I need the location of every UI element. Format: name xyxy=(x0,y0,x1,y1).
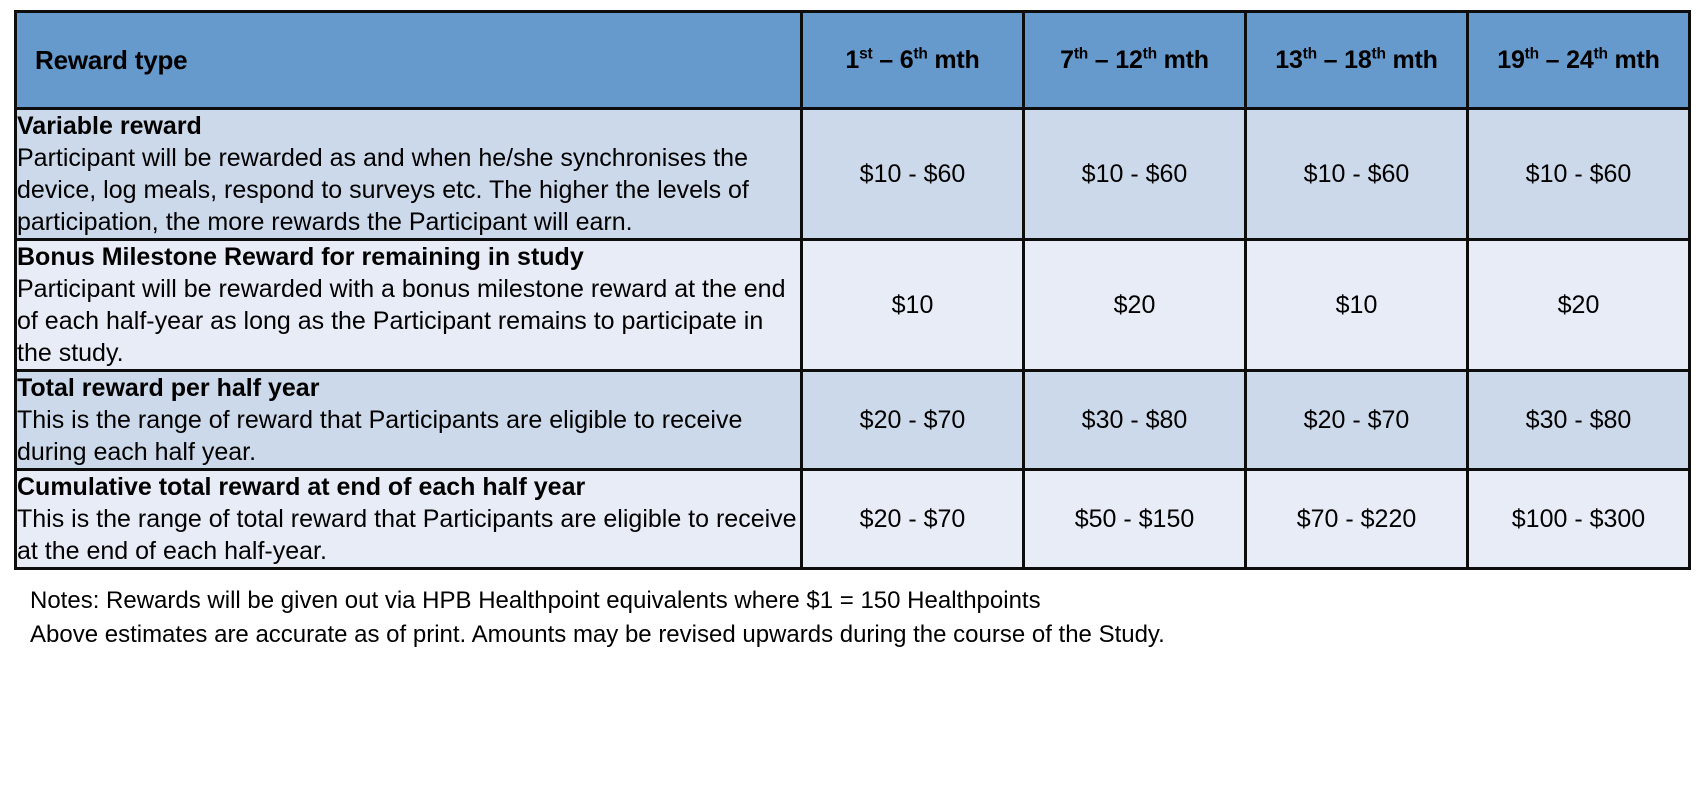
row-4-value-4: $100 - $300 xyxy=(1468,470,1690,569)
table-header: Reward type 1st – 6th mth 7th – 12th mth… xyxy=(16,12,1690,109)
period-2-start-suffix: th xyxy=(1074,45,1088,62)
row-2-value-4: $20 xyxy=(1468,240,1690,371)
period-1-start: 1 xyxy=(845,46,859,74)
period-1-end-suffix: th xyxy=(913,45,927,62)
notes-line-1: Notes: Rewards will be given out via HPB… xyxy=(30,584,1688,618)
reward-table-page: Reward type 1st – 6th mth 7th – 12th mth… xyxy=(0,0,1702,812)
row-4-type: Cumulative total reward at end of each h… xyxy=(16,470,802,569)
row-4-value-3: $70 - $220 xyxy=(1246,470,1468,569)
period-2-dash: – xyxy=(1088,46,1115,74)
period-3-dash: – xyxy=(1317,46,1344,74)
row-1-type: Variable reward Participant will be rewa… xyxy=(16,109,802,240)
row-1-value-2: $10 - $60 xyxy=(1024,109,1246,240)
period-1-unit: mth xyxy=(934,46,979,74)
row-4-description: This is the range of total reward that P… xyxy=(17,503,800,567)
row-3-title: Total reward per half year xyxy=(17,372,800,404)
period-2-end: 12 xyxy=(1115,46,1142,74)
period-4-start: 19 xyxy=(1497,46,1524,74)
header-period-3: 13th – 18th mth xyxy=(1246,12,1468,109)
table-row: Bonus Milestone Reward for remaining in … xyxy=(16,240,1690,371)
table-row: Cumulative total reward at end of each h… xyxy=(16,470,1690,569)
period-3-end-suffix: th xyxy=(1372,45,1386,62)
row-4-value-1: $20 - $70 xyxy=(802,470,1024,569)
row-2-type: Bonus Milestone Reward for remaining in … xyxy=(16,240,802,371)
row-2-title: Bonus Milestone Reward for remaining in … xyxy=(17,241,800,273)
row-3-value-4: $30 - $80 xyxy=(1468,371,1690,470)
period-3-end: 18 xyxy=(1344,46,1371,74)
row-2-value-2: $20 xyxy=(1024,240,1246,371)
row-1-description: Participant will be rewarded as and when… xyxy=(17,142,800,238)
period-4-end-suffix: th xyxy=(1594,45,1608,62)
table-body: Variable reward Participant will be rewa… xyxy=(16,109,1690,569)
period-1-dash: – xyxy=(872,46,899,74)
period-4-dash: – xyxy=(1539,46,1566,74)
period-4-end: 24 xyxy=(1566,46,1593,74)
row-4-value-2: $50 - $150 xyxy=(1024,470,1246,569)
row-2-value-1: $10 xyxy=(802,240,1024,371)
period-2-unit: mth xyxy=(1164,46,1209,74)
period-3-start: 13 xyxy=(1275,46,1302,74)
header-period-1: 1st – 6th mth xyxy=(802,12,1024,109)
reward-schedule-table: Reward type 1st – 6th mth 7th – 12th mth… xyxy=(14,10,1691,570)
period-1-end: 6 xyxy=(900,46,914,74)
row-3-value-2: $30 - $80 xyxy=(1024,371,1246,470)
period-2-end-suffix: th xyxy=(1143,45,1157,62)
row-1-title: Variable reward xyxy=(17,110,800,142)
row-2-description: Participant will be rewarded with a bonu… xyxy=(17,273,800,369)
row-1-value-3: $10 - $60 xyxy=(1246,109,1468,240)
header-period-4: 19th – 24th mth xyxy=(1468,12,1690,109)
row-3-value-3: $20 - $70 xyxy=(1246,371,1468,470)
period-2-start: 7 xyxy=(1060,46,1074,74)
row-3-value-1: $20 - $70 xyxy=(802,371,1024,470)
row-3-description: This is the range of reward that Partici… xyxy=(17,404,800,468)
period-3-start-suffix: th xyxy=(1303,45,1317,62)
header-period-2: 7th – 12th mth xyxy=(1024,12,1246,109)
period-1-start-suffix: st xyxy=(859,45,872,62)
row-2-value-3: $10 xyxy=(1246,240,1468,371)
row-1-value-1: $10 - $60 xyxy=(802,109,1024,240)
notes-line-2: Above estimates are accurate as of print… xyxy=(30,618,1688,652)
period-4-start-suffix: th xyxy=(1525,45,1539,62)
header-row: Reward type 1st – 6th mth 7th – 12th mth… xyxy=(16,12,1690,109)
period-3-unit: mth xyxy=(1393,46,1438,74)
table-row: Total reward per half year This is the r… xyxy=(16,371,1690,470)
row-3-type: Total reward per half year This is the r… xyxy=(16,371,802,470)
row-1-value-4: $10 - $60 xyxy=(1468,109,1690,240)
row-4-title: Cumulative total reward at end of each h… xyxy=(17,471,800,503)
table-row: Variable reward Participant will be rewa… xyxy=(16,109,1690,240)
period-4-unit: mth xyxy=(1615,46,1660,74)
notes-section: Notes: Rewards will be given out via HPB… xyxy=(14,584,1688,652)
header-reward-type: Reward type xyxy=(16,12,802,109)
